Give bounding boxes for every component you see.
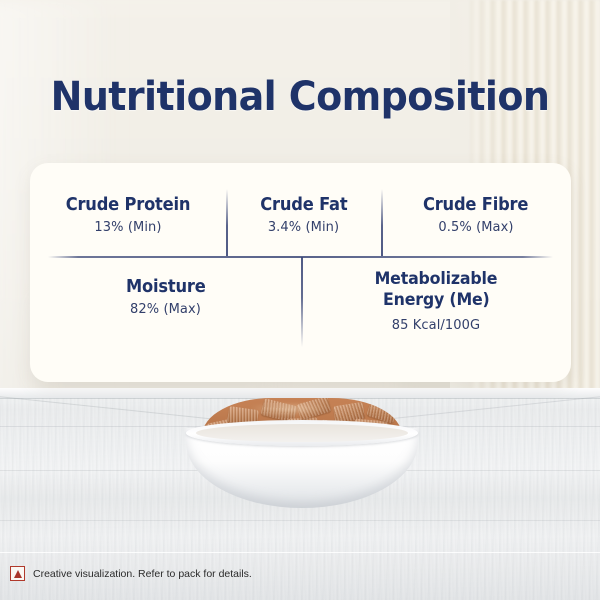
triangle-glyph bbox=[14, 570, 22, 578]
vertical-divider bbox=[381, 189, 383, 256]
footer-content: Creative visualization. Refer to pack fo… bbox=[10, 566, 252, 581]
nutrient-value: 3.4% (Min) bbox=[268, 220, 339, 235]
nutrient-value: 0.5% (Max) bbox=[438, 220, 513, 235]
red-triangle-non-veg-icon bbox=[10, 566, 25, 581]
nutrient-value: 13% (Min) bbox=[94, 220, 161, 235]
countertop-front-edge bbox=[0, 388, 600, 398]
nutrition-card: Crude Protein 13% (Min) Crude Fat 3.4% (… bbox=[30, 163, 571, 382]
nutrition-row-top: Crude Protein 13% (Min) Crude Fat 3.4% (… bbox=[30, 189, 571, 256]
vertical-divider bbox=[301, 257, 303, 347]
nutrition-composition-creative: Nutritional Composition Crude Protein 13… bbox=[0, 0, 600, 600]
nutrient-moisture: Moisture 82% (Max) bbox=[30, 263, 301, 363]
bowl-rim-inner bbox=[196, 424, 408, 442]
nutrient-crude-protein: Crude Protein 13% (Min) bbox=[30, 189, 226, 256]
nutrient-crude-fat: Crude Fat 3.4% (Min) bbox=[226, 189, 381, 256]
nutrient-crude-fibre: Crude Fibre 0.5% (Max) bbox=[381, 189, 571, 256]
nutrient-metabolizable-energy: Metabolizable Energy (Me) 85 Kcal/100G bbox=[301, 263, 571, 363]
nutrient-label: Crude Fat bbox=[260, 195, 347, 216]
nutrient-label-line2: Energy (Me) bbox=[383, 290, 490, 311]
vertical-divider bbox=[226, 189, 228, 256]
page-title: Nutritional Composition bbox=[15, 74, 585, 120]
product-bowl bbox=[186, 398, 418, 510]
food-highlight bbox=[230, 400, 350, 418]
nutrient-label: Moisture bbox=[126, 277, 206, 298]
nutrient-value: 85 Kcal/100G bbox=[392, 318, 480, 333]
disclaimer-text: Creative visualization. Refer to pack fo… bbox=[33, 568, 252, 580]
footer-divider bbox=[0, 552, 600, 553]
footer: Creative visualization. Refer to pack fo… bbox=[0, 552, 600, 600]
nutrient-label: Crude Fibre bbox=[423, 195, 528, 216]
nutrient-label-line1: Metabolizable bbox=[375, 269, 498, 290]
nutrient-label: Crude Protein bbox=[66, 195, 191, 216]
nutrient-value: 82% (Max) bbox=[130, 302, 201, 317]
countertop-seam bbox=[0, 520, 600, 521]
